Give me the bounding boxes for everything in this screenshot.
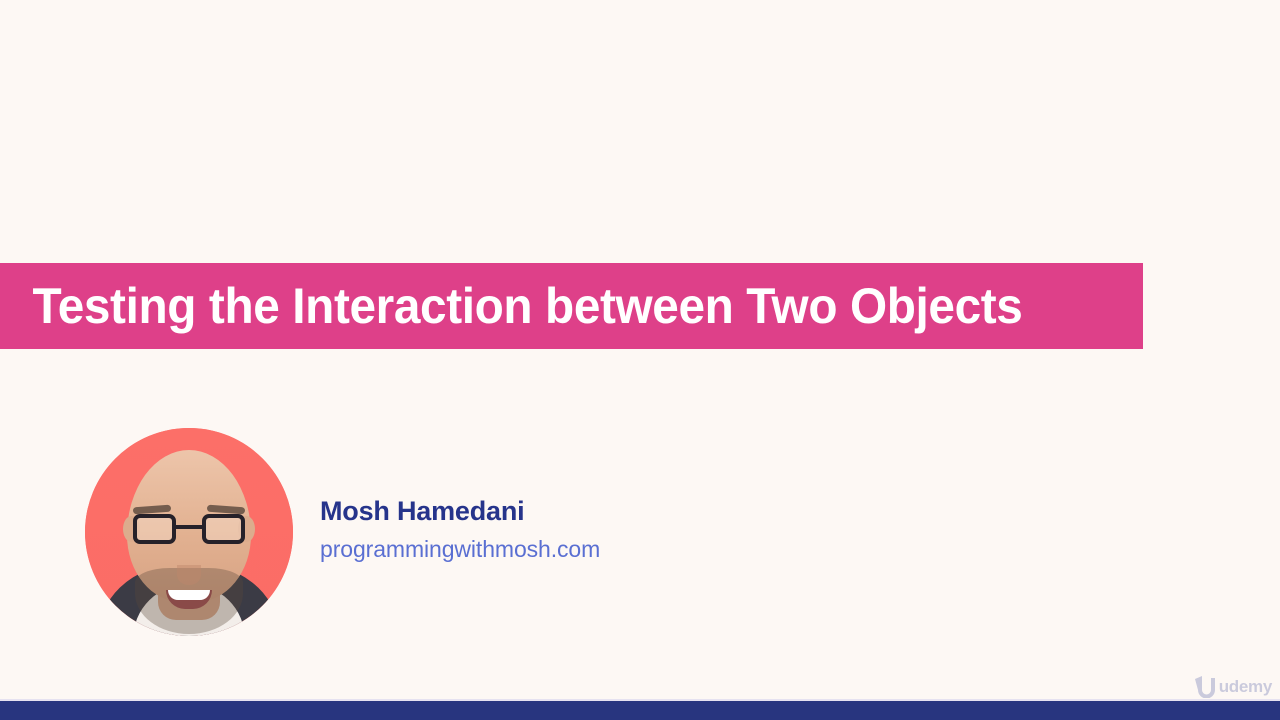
avatar-teeth (168, 590, 210, 600)
author-website: programmingwithmosh.com (320, 535, 600, 565)
author-block: Mosh Hamedani programmingwithmosh.com (85, 428, 600, 636)
slide-canvas: Testing the Interaction between Two Obje… (0, 0, 1280, 720)
footer-bar (0, 701, 1280, 720)
udemy-watermark-text: udemy (1219, 677, 1272, 697)
udemy-watermark: udemy (1192, 674, 1272, 700)
avatar-nose (177, 565, 201, 585)
page-title: Testing the Interaction between Two Obje… (0, 281, 1022, 331)
glasses-icon (133, 514, 245, 544)
glasses-lens-right (202, 514, 245, 544)
title-banner: Testing the Interaction between Two Obje… (0, 263, 1143, 349)
glasses-bridge (176, 525, 202, 529)
avatar (85, 428, 293, 636)
udemy-logo-icon (1192, 676, 1216, 698)
glasses-lens-left (133, 514, 176, 544)
author-name: Mosh Hamedani (320, 495, 600, 529)
author-text-group: Mosh Hamedani programmingwithmosh.com (320, 495, 600, 570)
